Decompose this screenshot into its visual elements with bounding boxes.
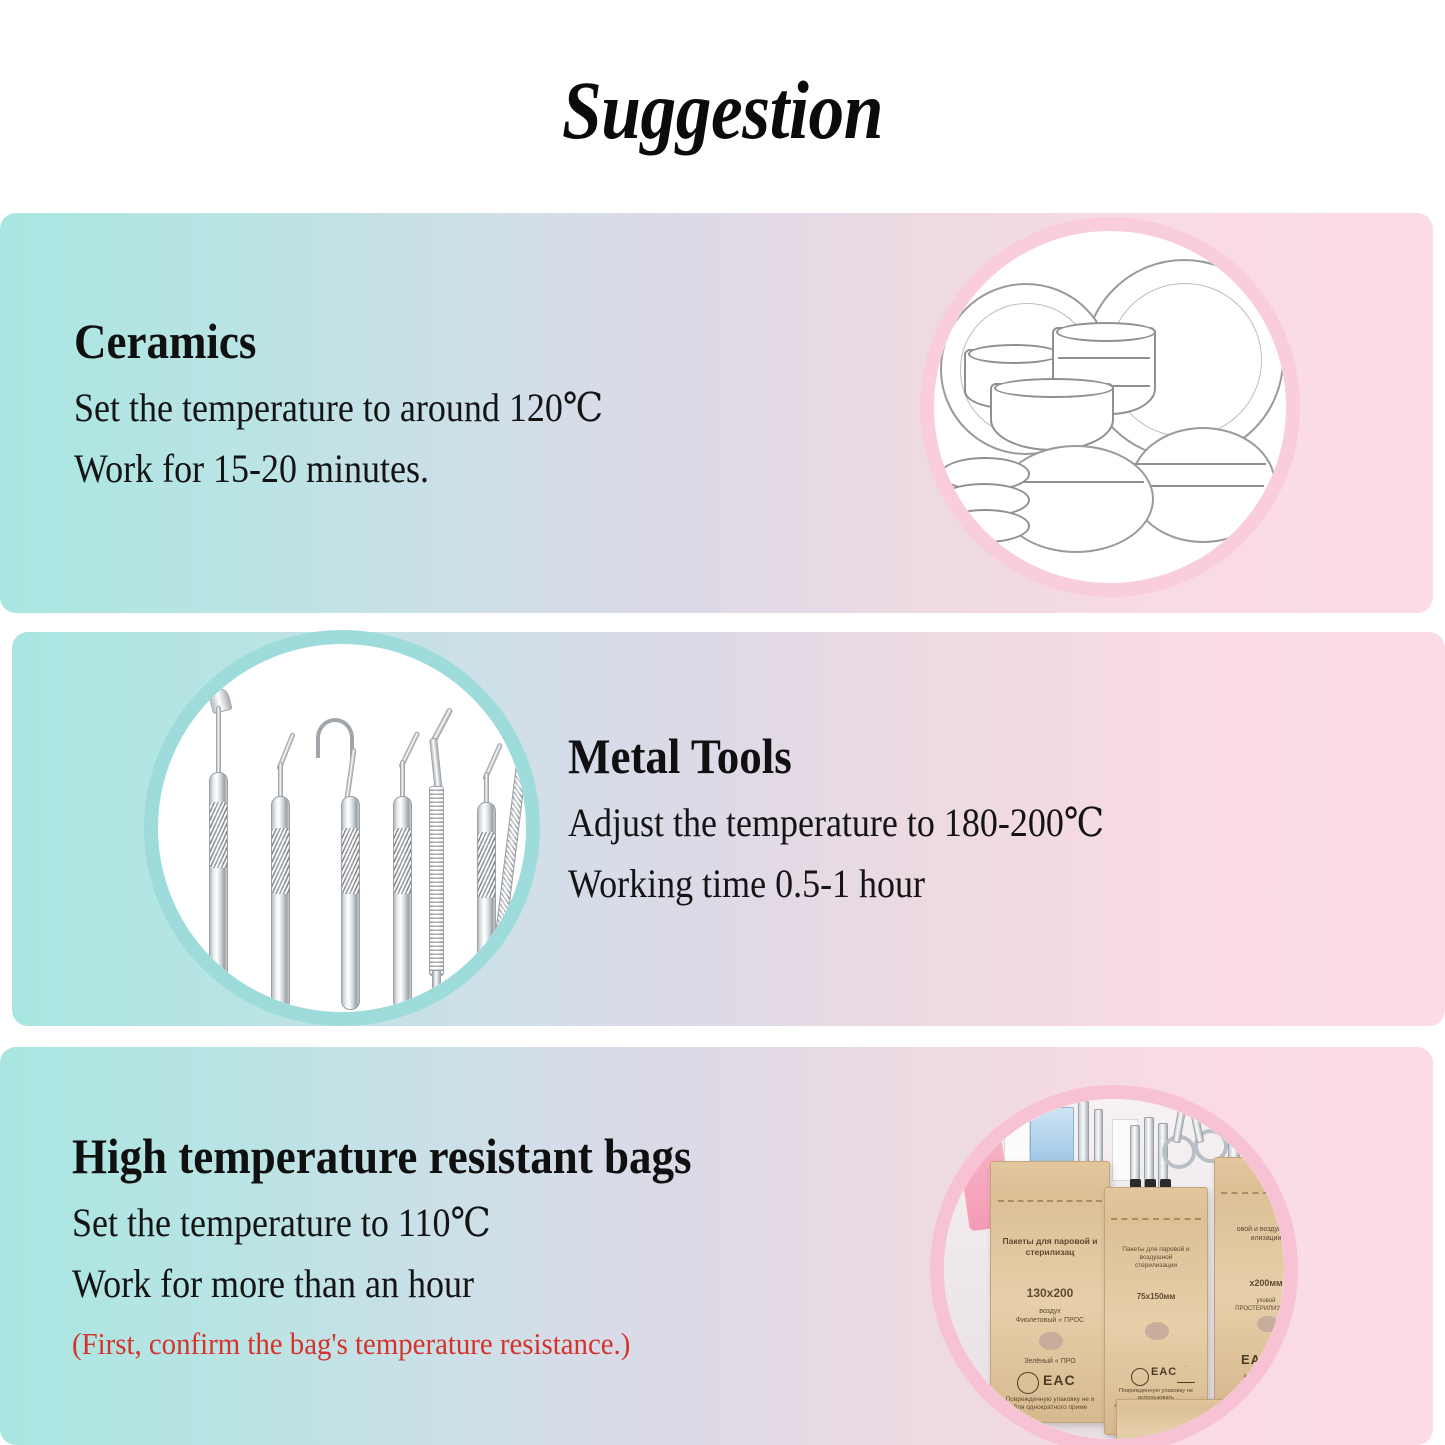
bag3-footer: вку не использо го применения — [1215, 1374, 1284, 1389]
stack-divider — [1134, 463, 1266, 465]
bag1-size: 130x200 — [991, 1286, 1109, 1301]
no-reuse-mark — [1131, 1368, 1149, 1386]
bowl-rim — [968, 344, 1060, 364]
ceramics-line-2: Work for 15-20 minutes. — [74, 439, 603, 500]
sterilization-bag-right: овой и воздушной илизации x200мм уховой … — [1214, 1157, 1284, 1407]
ceramics-heading: Ceramics — [74, 315, 603, 368]
bag2-title: Пакеты для паровой и воздушной стерилиза… — [1105, 1246, 1207, 1270]
bag1-title: Пакеты для паровой и стерилизац — [991, 1236, 1109, 1257]
bags-line-1: Set the temperature to 110℃ — [72, 1193, 692, 1254]
sterilization-bag-left: Пакеты для паровой и стерилизац 130x200 … — [990, 1161, 1110, 1423]
metal-tools-text: Metal Tools Adjust the temperature to 18… — [568, 730, 1164, 915]
eac-mark: EAC — [1151, 1366, 1177, 1378]
indicator-dot — [1145, 1322, 1169, 1340]
ceramics-text: Ceramics Set the temperature to around 1… — [74, 315, 662, 500]
bag3-size: x200мм — [1215, 1278, 1284, 1289]
indicator-dot — [1257, 1316, 1279, 1332]
metal-tools-line-2: Working time 0.5-1 hour — [568, 854, 1104, 915]
stack-divider — [1136, 485, 1264, 487]
bags-warning-note: (First, confirm the bag's temperature re… — [72, 1321, 712, 1368]
metal-tools-photo — [158, 644, 526, 1012]
bags-photo-frame: овой и воздушной илизации x200мм уховой … — [930, 1085, 1298, 1445]
sterilization-bag-center: Пакеты для паровой и воздушной стерилиза… — [1104, 1187, 1208, 1435]
metal-tools-photo-frame — [144, 630, 540, 1026]
bag1-sub2: Зелёный « ПРО — [991, 1358, 1109, 1367]
indicator-dot — [1039, 1332, 1063, 1350]
bags-photo: овой и воздушной илизации x200мм уховой … — [944, 1099, 1284, 1439]
bag3-sub: уховой ПРОСТЕРИЛИЗОВАН — [1215, 1298, 1284, 1313]
eac-mark: EAC — [1241, 1352, 1271, 1367]
bags-text: High temperature resistant bags Set the … — [72, 1130, 760, 1367]
ceramics-photo-frame — [920, 217, 1300, 597]
sterilization-bag-flat — [1116, 1399, 1234, 1439]
recycle-mark — [1277, 1350, 1284, 1370]
no-reuse-mark — [1017, 1372, 1039, 1394]
bag1-sub: воздух Фиолетовый « ПРОС — [991, 1308, 1109, 1326]
recycle-mark — [1177, 1366, 1195, 1383]
bowl-rim — [1056, 322, 1156, 342]
metal-tools-line-1: Adjust the temperature to 180-200℃ — [568, 793, 1104, 854]
bag2-size: 75x150мм — [1105, 1292, 1207, 1302]
bag3-title: овой и воздушной илизации — [1215, 1226, 1284, 1244]
ceramic-deep-bowl — [990, 383, 1114, 451]
stack-divider — [1058, 357, 1150, 359]
ceramics-photo — [934, 231, 1286, 583]
page-title: Suggestion — [101, 62, 1344, 158]
bag1-footer: Поврежденную упаковку не и Для однократн… — [991, 1396, 1109, 1412]
ceramic-saucer — [940, 509, 1030, 543]
bags-line-2: Work for more than an hour — [72, 1254, 692, 1315]
eac-mark: EAC — [1043, 1372, 1076, 1388]
suggestion-infographic: Suggestion — [0, 0, 1445, 1445]
bowl-rim — [994, 378, 1113, 398]
bags-heading: High temperature resistant bags — [72, 1130, 692, 1183]
ceramics-line-1: Set the temperature to around 120℃ — [74, 378, 603, 439]
metal-tools-heading: Metal Tools — [568, 730, 1104, 783]
blue-buffer — [1030, 1107, 1074, 1165]
